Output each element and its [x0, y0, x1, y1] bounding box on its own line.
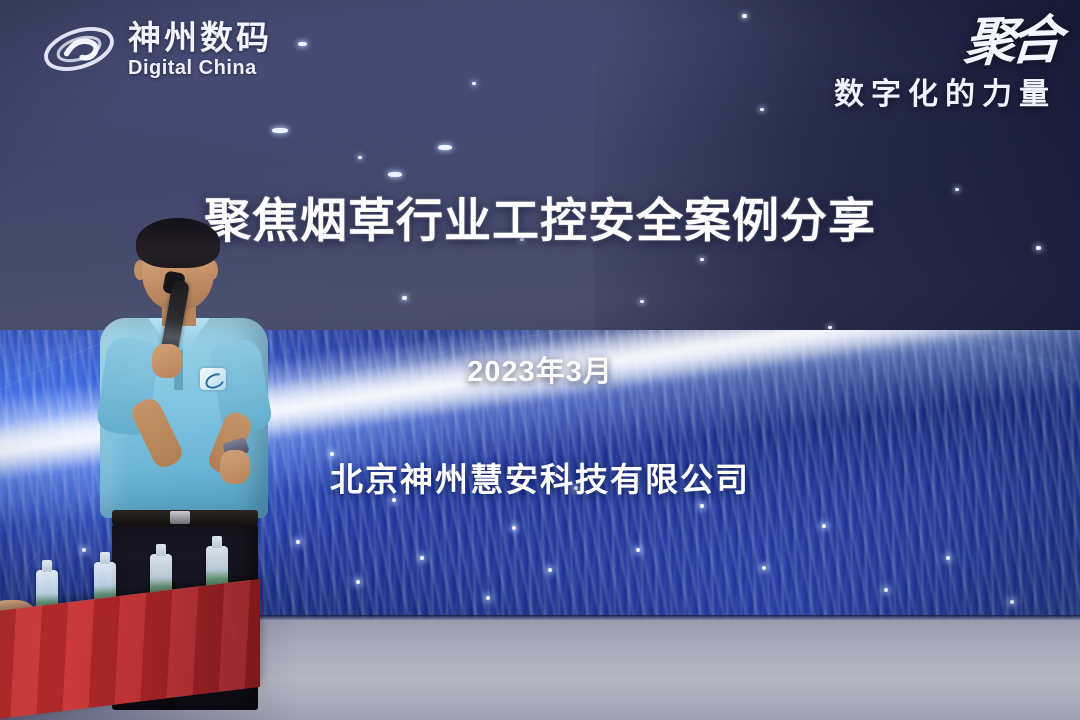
- digital-china-logo: 神州数码 Digital China: [40, 18, 272, 80]
- brand-name-cn: 神州数码: [128, 21, 272, 54]
- conference-photo: 神州数码 Digital China 聚合 数字化的力量 聚焦烟草行业工控安全案…: [0, 0, 1080, 720]
- brand-name-en: Digital China: [128, 58, 272, 78]
- event-calligraphy: 聚合: [962, 20, 1057, 66]
- event-logo: 聚合 数字化的力量: [834, 22, 1056, 113]
- presenter-hand-right: [220, 450, 250, 484]
- presenter: [96, 222, 276, 622]
- chest-logo-badge: [200, 368, 226, 390]
- presenter-hand-left: [152, 344, 182, 378]
- belt-buckle: [170, 511, 190, 524]
- digital-china-swirl-icon: [40, 18, 118, 80]
- presenter-hair: [136, 218, 220, 268]
- front-row-table: [0, 588, 266, 720]
- event-slogan: 数字化的力量: [834, 69, 1056, 113]
